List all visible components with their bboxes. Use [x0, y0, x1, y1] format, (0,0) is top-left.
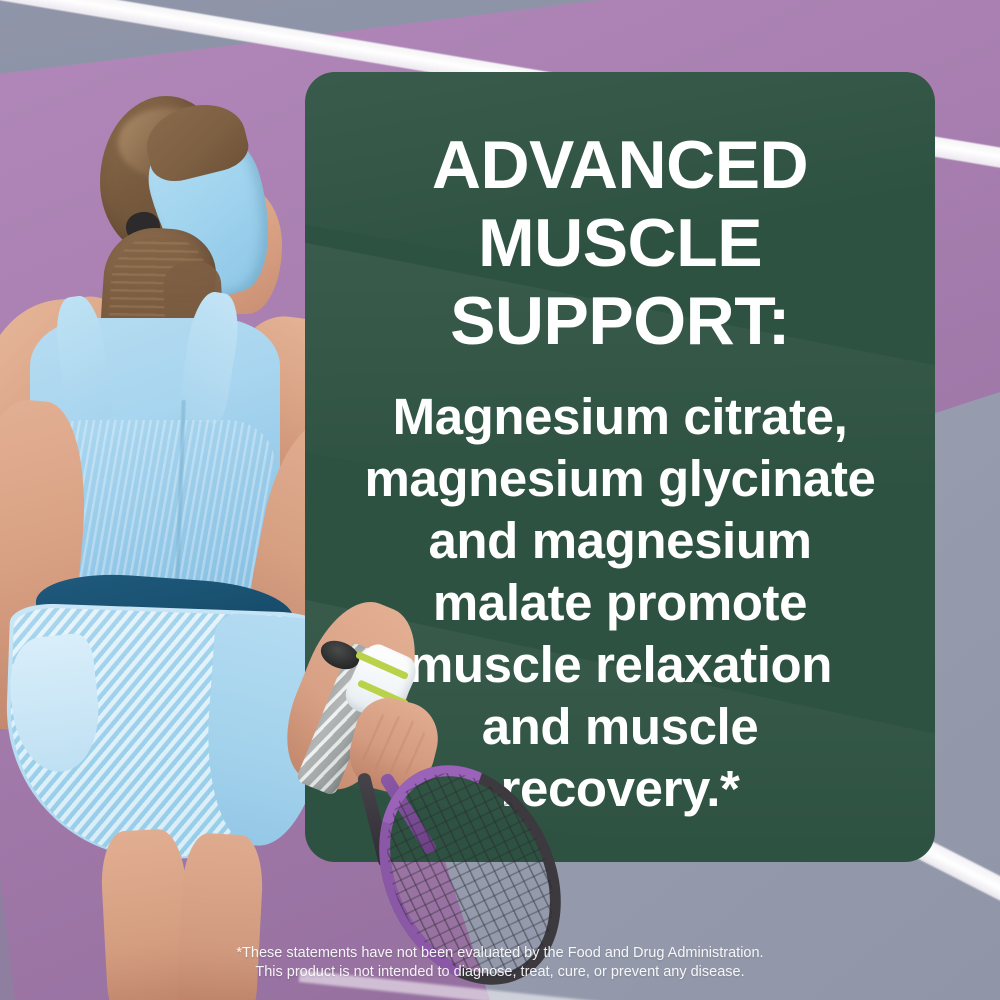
legal-disclaimer: *These statements have not been evaluate…	[0, 944, 1000, 982]
ad-creative: ADVANCED MUSCLE SUPPORT: Magnesium citra…	[0, 0, 1000, 1000]
disclaimer-line-1: *These statements have not been evaluate…	[0, 944, 1000, 963]
player-racket-arm-group	[0, 0, 1000, 1000]
disclaimer-line-2: This product is not intended to diagnose…	[0, 963, 1000, 982]
